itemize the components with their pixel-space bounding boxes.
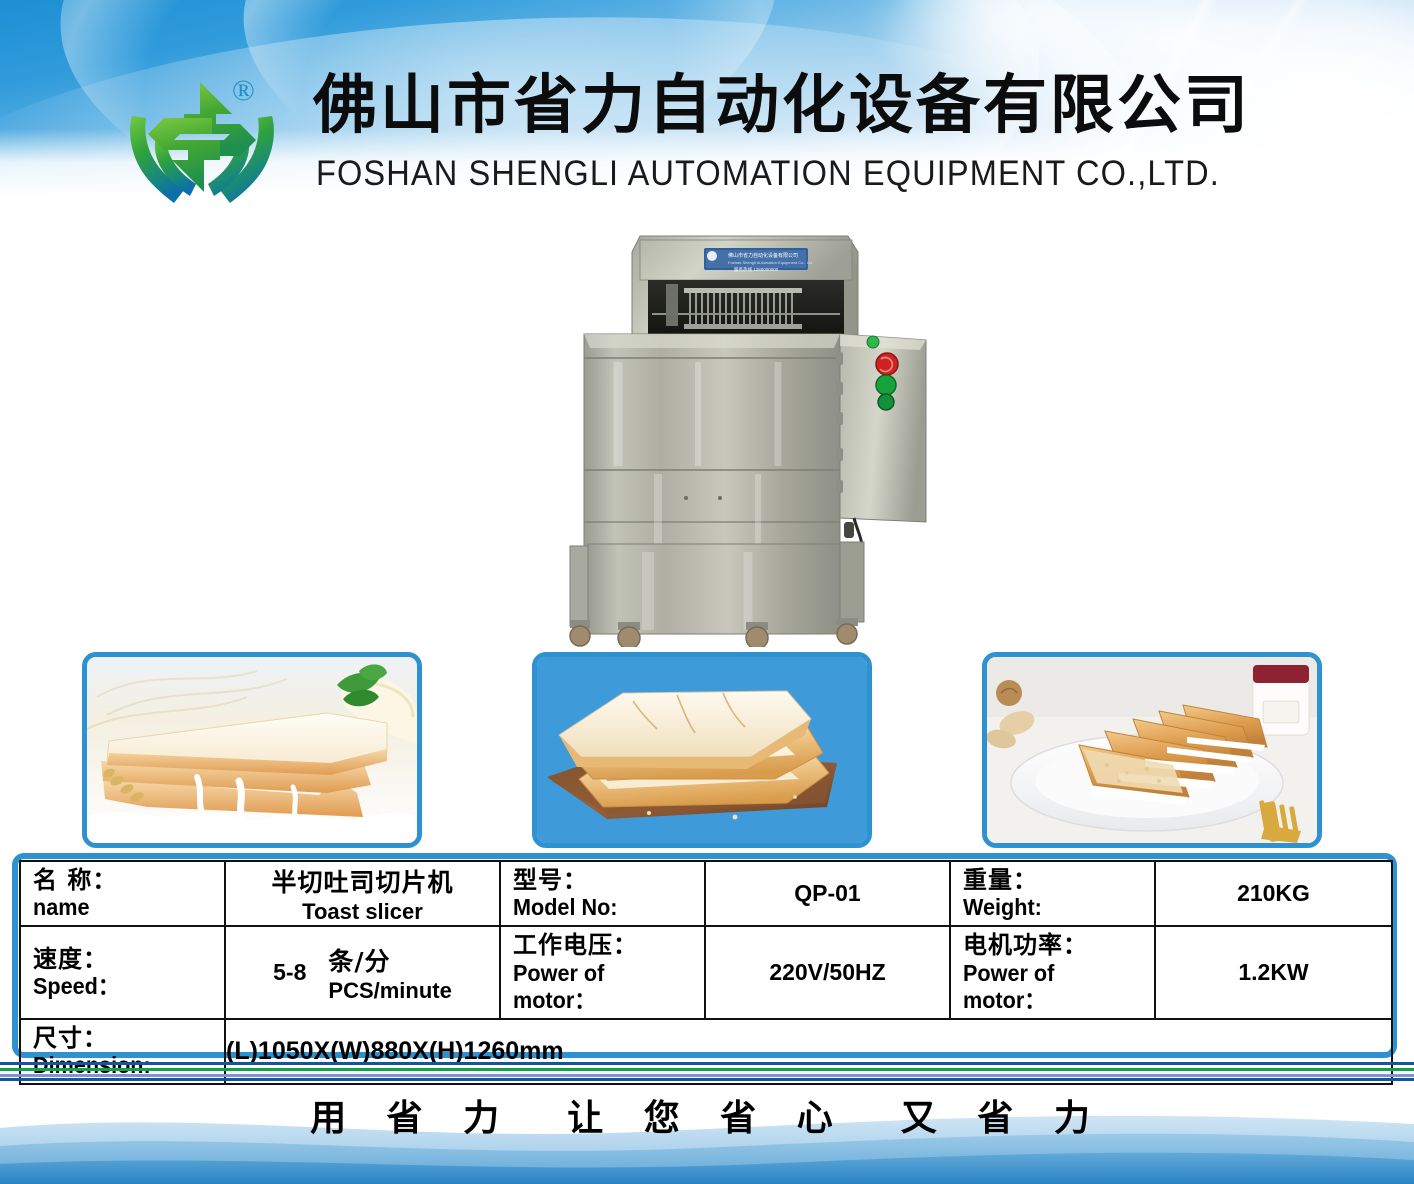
label-motor-power-cn: 电机功率： <box>963 931 1154 959</box>
specification-table: 名 称： name 半切吐司切片机 Toast slicer 型号： Model… <box>19 860 1393 1085</box>
company-logo <box>122 72 282 224</box>
label-weight-en: Weight: <box>963 894 1143 921</box>
svg-text:服务热线 1380000000: 服务热线 1380000000 <box>734 266 779 273</box>
specification-table-container: 名 称： name 半切吐司切片机 Toast slicer 型号： Model… <box>12 853 1397 1058</box>
gallery-photo-2 <box>532 652 872 848</box>
speed-unit-cn: 条/分 <box>328 942 451 978</box>
label-dimension-cn: 尺寸： <box>33 1024 224 1052</box>
spec-label-name: 名 称： name <box>20 861 225 926</box>
svg-text:佛山市省力自动化设备有限公司: 佛山市省力自动化设备有限公司 <box>728 252 798 259</box>
table-row: 名 称： name 半切吐司切片机 Toast slicer 型号： Model… <box>20 861 1392 926</box>
spec-label-motor-power: 电机功率： Power of motor： <box>950 926 1155 1019</box>
value-name-en: Toast slicer <box>226 899 499 925</box>
spec-value-weight: 210KG <box>1155 861 1392 926</box>
footer-slogan: 用 省 力让 您 省 心又 省 力 <box>0 1089 1414 1141</box>
spec-value-name: 半切吐司切片机 Toast slicer <box>225 861 500 926</box>
company-name-chinese: 佛山市省力自动化设备有限公司 <box>313 74 1251 138</box>
label-name-cn: 名 称： <box>33 866 224 894</box>
company-name-english: FOSHAN SHENGLI AUTOMATION EQUIPMENT CO.,… <box>316 155 1220 194</box>
label-weight-cn: 重量： <box>963 866 1154 894</box>
label-voltage-en: Power of motor： <box>513 960 693 1014</box>
slogan-part-3: 又 省 力 <box>901 1098 1104 1139</box>
label-model-cn: 型号： <box>513 866 704 894</box>
spec-value-voltage: 220V/50HZ <box>705 926 950 1019</box>
table-row: 速度： Speed： 5-8 条/分 PCS/minute <box>20 926 1392 1019</box>
spec-label-model: 型号： Model No: <box>500 861 705 926</box>
spec-value-motor-power: 1.2KW <box>1155 926 1392 1019</box>
gallery-photo-1 <box>82 652 422 848</box>
label-speed-en: Speed： <box>33 973 213 1000</box>
gallery-photo-3 <box>982 652 1322 848</box>
spec-value-speed: 5-8 条/分 PCS/minute <box>225 926 500 1019</box>
svg-text:Foshan Shengli Automation Equi: Foshan Shengli Automation Equipment Co.,… <box>728 260 812 265</box>
spec-label-weight: 重量： Weight: <box>950 861 1155 926</box>
slogan-part-1: 用 省 力 <box>310 1098 513 1139</box>
label-name-en: name <box>33 894 213 921</box>
spec-label-speed: 速度： Speed： <box>20 926 225 1019</box>
page-header: ® 佛山市省力自动化设备有限公司 FOSHAN SHENGLI AUTOMATI… <box>0 0 1414 225</box>
label-speed-cn: 速度： <box>33 945 224 973</box>
spec-value-model: QP-01 <box>705 861 950 926</box>
label-motor-power-en: Power of motor： <box>963 960 1143 1014</box>
speed-unit-en: PCS/minute <box>328 978 451 1004</box>
footer-rule-dark-bottom <box>0 1078 1414 1081</box>
registered-trademark-icon: ® <box>232 76 255 106</box>
slogan-part-2: 让 您 省 心 <box>567 1098 847 1139</box>
speed-number: 5-8 <box>273 959 306 986</box>
label-model-en: Model No: <box>513 894 693 921</box>
label-voltage-cn: 工作电压： <box>513 931 704 959</box>
value-name-cn: 半切吐司切片机 <box>226 863 499 899</box>
spec-label-voltage: 工作电压： Power of motor： <box>500 926 705 1019</box>
machine-product-photo: 佛山市省力自动化设备有限公司 Foshan Shengli Automation… <box>548 222 968 647</box>
footer-rule-dark-top <box>0 1062 1414 1065</box>
footer-rule-periwinkle <box>0 1074 1414 1077</box>
footer-rule-green <box>0 1068 1414 1071</box>
